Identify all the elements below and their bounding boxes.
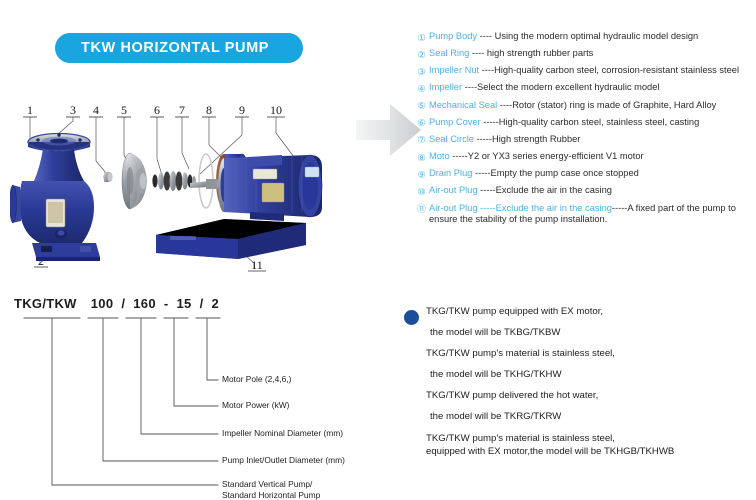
legend-description: Air-out Plug -----Exclude the air in the… — [429, 185, 754, 196]
legend-part-name: Pump Cover — [429, 117, 481, 127]
legend-description: Pump Cover -----High-quality carbon stee… — [429, 117, 754, 128]
legend-description: Drain Plug -----Empty the pump case once… — [429, 168, 754, 179]
legend-dash: ---- — [462, 82, 477, 92]
legend-desc-text: Select the modern excellent hydraulic mo… — [477, 82, 659, 92]
model-code-pole: 2 — [212, 296, 220, 311]
model-label-motor-pole: Motor Pole (2,4,6,) — [222, 374, 291, 385]
legend-dash: ----- — [450, 151, 468, 161]
model-code-impeller: 160 — [133, 296, 156, 311]
legend-item: ⑦ Seal Circle -----High strength Rubber — [414, 134, 754, 146]
svg-text:7: 7 — [179, 103, 185, 117]
legend-number: ③ — [414, 65, 429, 77]
legend-number: ⑨ — [414, 168, 429, 180]
note-line: the model will be TKBG/TKBW — [426, 327, 752, 339]
legend-number: ⑥ — [414, 117, 429, 129]
legend-dash: ----- — [478, 185, 496, 195]
legend-item: ⑩ Air-out Plug -----Exclude the air in t… — [414, 185, 754, 197]
svg-text:8: 8 — [206, 103, 212, 117]
note-line: the model will be TKHG/TKHW — [426, 369, 752, 381]
mechanical-seal-graphic — [152, 171, 196, 191]
model-label-motor-power: Motor Power (kW) — [222, 400, 289, 411]
legend-part-name: Air-out Plug -----Exclude the air in the… — [429, 203, 612, 213]
model-code-slash1: / — [121, 296, 125, 311]
legend-dash: ---- — [477, 31, 495, 41]
legend-desc-text: High-quality carbon steel, stainless ste… — [499, 117, 700, 127]
legend-item: ⑧ Moto -----Y2 or YX3 series energy-effi… — [414, 151, 754, 163]
legend-dash: ---- — [469, 48, 487, 58]
base-plate-graphic — [156, 219, 306, 259]
legend-desc-text: Using the modern optimal hydraulic model… — [495, 31, 699, 41]
legend-dash: ----- — [481, 117, 499, 127]
legend-desc-text: Empty the pump case once stopped — [491, 168, 639, 178]
legend-number: ② — [414, 48, 429, 60]
legend-part-name: Mechanical Seal — [429, 100, 497, 110]
model-label-inlet-outlet-diameter: Pump Inlet/Outlet Diameter (mm) — [222, 455, 345, 466]
legend-dash: ---- — [479, 65, 494, 75]
model-code-hyphen: - — [164, 296, 169, 311]
legend-item: ④ Impeller ----Select the modern excelle… — [414, 82, 754, 94]
bullet-dot-icon — [404, 310, 419, 325]
legend-part-name: Impeller — [429, 82, 462, 92]
svg-text:10: 10 — [270, 103, 282, 117]
legend-desc-text: Rotor (stator) ring is made of Graphite,… — [512, 100, 716, 110]
model-code-breakdown: TKG/TKW 100 / 160 - 15 / 2 — [14, 296, 406, 496]
model-label-impeller-diameter: Impeller Nominal Diameter (mm) — [222, 428, 343, 439]
model-code-prefix: TKG/TKW — [14, 296, 77, 311]
legend-part-name: Seal Circle — [429, 134, 474, 144]
legend-description: Seal Ring ---- high strength rubber part… — [429, 48, 754, 59]
legend-desc-text: high strength rubber parts — [487, 48, 593, 58]
note-line: TKG/TKW pump's material is stainless ste… — [426, 348, 752, 360]
svg-text:9: 9 — [239, 103, 245, 117]
legend-part-name: Seal Ring — [429, 48, 469, 58]
exploded-pump-diagram: 1 3 4 5 6 7 8 9 10 2 11 — [10, 95, 360, 285]
note-line: TKG/TKW pump delivered the hot water, — [426, 390, 752, 402]
legend-part-name: Air-out Plug — [429, 185, 478, 195]
svg-text:4: 4 — [93, 103, 99, 117]
note-line: TKG/TKW pump equipped with EX motor, — [426, 306, 752, 318]
legend-item: ③ Impeller Nut ----High-quality carbon s… — [414, 65, 754, 77]
legend-desc-text: Exclude the air in the casing — [496, 185, 612, 195]
legend-item: ① Pump Body ---- Using the modern optima… — [414, 31, 754, 43]
legend-dash: ---- — [497, 100, 512, 110]
legend-desc-text: Y2 or YX3 series energy-efficient V1 mot… — [468, 151, 644, 161]
legend-desc-text: High-quality carbon steel, corrosion-res… — [494, 65, 739, 75]
svg-text:6: 6 — [154, 103, 160, 117]
model-leader-lines — [14, 314, 406, 496]
parts-legend-list: ① Pump Body ---- Using the modern optima… — [414, 31, 754, 230]
page-title: TKW HORIZONTAL PUMP — [81, 40, 269, 56]
legend-item: ⑤ Mechanical Seal ----Rotor (stator) rin… — [414, 100, 754, 112]
notes-line-list: TKG/TKW pump equipped with EX motor, the… — [426, 306, 752, 467]
legend-number: ⑦ — [414, 134, 429, 146]
legend-number: ⑩ — [414, 185, 429, 197]
model-code-slash2: / — [200, 296, 204, 311]
model-code-power: 15 — [177, 296, 192, 311]
svg-text:11: 11 — [251, 258, 263, 272]
legend-description: Pump Body ---- Using the modern optimal … — [429, 31, 754, 42]
impeller-nut-graphic — [104, 172, 113, 182]
legend-description: Mechanical Seal ----Rotor (stator) ring … — [429, 100, 754, 111]
legend-dash: ----- — [474, 134, 492, 144]
pump-product-infographic: TKW HORIZONTAL PUMP — [0, 0, 756, 500]
legend-dash: ----- — [472, 168, 490, 178]
legend-part-name: Moto — [429, 151, 450, 161]
svg-text:3: 3 — [70, 103, 76, 117]
model-label-standard-pump-line1: Standard Vertical Pump/ — [222, 479, 312, 490]
pump-body-graphic — [10, 133, 100, 261]
note-line: equipped with EX motor,the model will be… — [426, 446, 752, 458]
legend-number: ④ — [414, 82, 429, 94]
motor-graphic — [218, 155, 322, 221]
legend-description: Impeller ----Select the modern excellent… — [429, 82, 754, 93]
legend-description: Seal Circle -----High strength Rubber — [429, 134, 754, 145]
legend-item: ⑥ Pump Cover -----High-quality carbon st… — [414, 117, 754, 129]
legend-number: ⑧ — [414, 151, 429, 163]
legend-dash: ----- — [612, 203, 627, 213]
model-label-standard-pump-line2: Standard Horizontal Pump — [222, 490, 320, 500]
legend-item: ② Seal Ring ---- high strength rubber pa… — [414, 48, 754, 60]
impeller-graphic — [122, 153, 147, 209]
legend-description: Moto -----Y2 or YX3 series energy-effici… — [429, 151, 754, 162]
legend-number: ⑤ — [414, 100, 429, 112]
note-line: the model will be TKRG/TKRW — [426, 411, 752, 423]
legend-number: ⑪ — [414, 203, 429, 215]
legend-description: Air-out Plug -----Exclude the air in the… — [429, 203, 754, 226]
legend-part-name: Impeller Nut — [429, 65, 479, 75]
title-banner: TKW HORIZONTAL PUMP — [55, 33, 303, 63]
note-line: TKG/TKW pump's material is stainless ste… — [426, 433, 752, 445]
svg-text:1: 1 — [27, 103, 33, 117]
legend-desc-text: High strength Rubber — [492, 134, 580, 144]
legend-number: ① — [414, 31, 429, 43]
legend-part-name: Pump Body — [429, 31, 477, 41]
legend-description: Impeller Nut ----High-quality carbon ste… — [429, 65, 754, 76]
model-code-inlet: 100 — [91, 296, 114, 311]
model-code-string: TKG/TKW 100 / 160 - 15 / 2 — [14, 296, 219, 316]
legend-part-name: Drain Plug — [429, 168, 472, 178]
svg-text:5: 5 — [121, 103, 127, 117]
arrow-right-icon — [356, 98, 422, 162]
legend-item: ⑪ Air-out Plug -----Exclude the air in t… — [414, 203, 754, 226]
legend-item: ⑨ Drain Plug -----Empty the pump case on… — [414, 168, 754, 180]
